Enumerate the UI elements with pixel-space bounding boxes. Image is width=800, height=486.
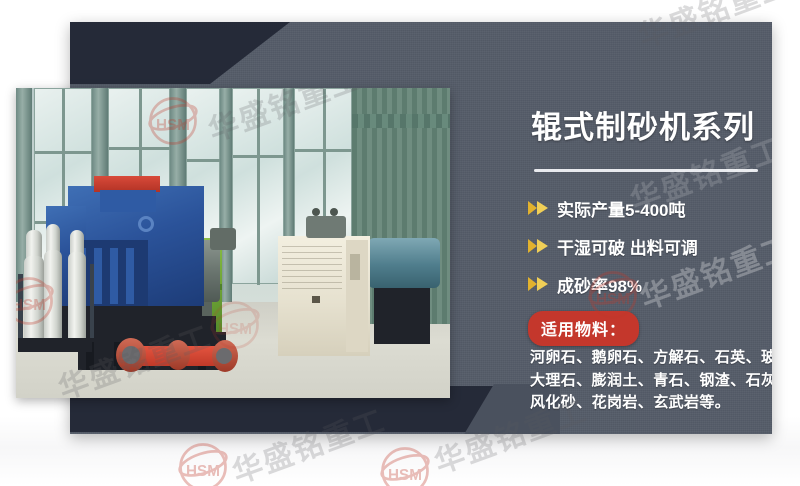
cabinet-knob	[312, 208, 320, 216]
pipe	[90, 264, 94, 338]
motor-terminal-box	[210, 228, 236, 250]
machine-teal-motor	[368, 238, 440, 288]
page-title: 辊式制砂机系列	[531, 112, 755, 143]
title-divider	[534, 169, 758, 172]
feature-text: 成砂率98%	[557, 272, 642, 297]
cylinder-tank	[68, 252, 86, 342]
cylinder-tank	[24, 256, 44, 342]
list-item: 实际产量5-400吨	[528, 189, 772, 227]
driveshaft-coupling	[166, 340, 190, 370]
feature-text: 干湿可破 出料可调	[557, 234, 698, 259]
crusher-rib	[110, 248, 118, 304]
crusher-hopper	[100, 190, 156, 212]
wall-band	[352, 114, 450, 128]
poster-canvas: 辊式制砂机系列 实际产量5-400吨	[0, 0, 800, 486]
pipe	[18, 274, 23, 344]
tank-rack	[18, 338, 92, 352]
arrow-bullet-icon	[528, 276, 550, 292]
crusher-rib	[94, 248, 102, 304]
crusher-inspection-port	[138, 216, 154, 232]
materials-text: 河卵石、鹅卵石、方解石、石英、玻璃、大理石、膨润土、青石、钢渣、石灰石、风化砂、…	[530, 347, 772, 415]
feature-list: 实际产量5-400吨 干湿可破 出料可调	[528, 189, 772, 303]
driveshaft-hub-center	[216, 348, 232, 364]
cabinet-gauge	[350, 254, 360, 280]
cabinet-latch	[312, 296, 320, 303]
driveshaft-hub-center	[122, 346, 140, 364]
arrow-bullet-icon	[528, 238, 550, 254]
cylinder-tank	[44, 250, 62, 342]
status-badge: 适用物料：	[528, 311, 639, 346]
product-photo: HSM 华盛铭重工 HSM 华盛铭重工 HSM	[16, 88, 450, 398]
arrow-bullet-icon	[528, 200, 550, 216]
cabinet-knob	[330, 208, 338, 216]
list-item: 干湿可破 出料可调	[528, 227, 772, 265]
window-pane	[232, 88, 284, 284]
crusher-rib	[126, 248, 134, 304]
list-item: 成砂率98%	[528, 265, 772, 303]
cabinet-top-box	[306, 216, 346, 238]
feature-text: 实际产量5-400吨	[557, 196, 685, 221]
panel-navy-wedge	[70, 22, 400, 84]
banner-content: 辊式制砂机系列 实际产量5-400吨	[468, 22, 772, 434]
machine-base	[374, 288, 430, 344]
